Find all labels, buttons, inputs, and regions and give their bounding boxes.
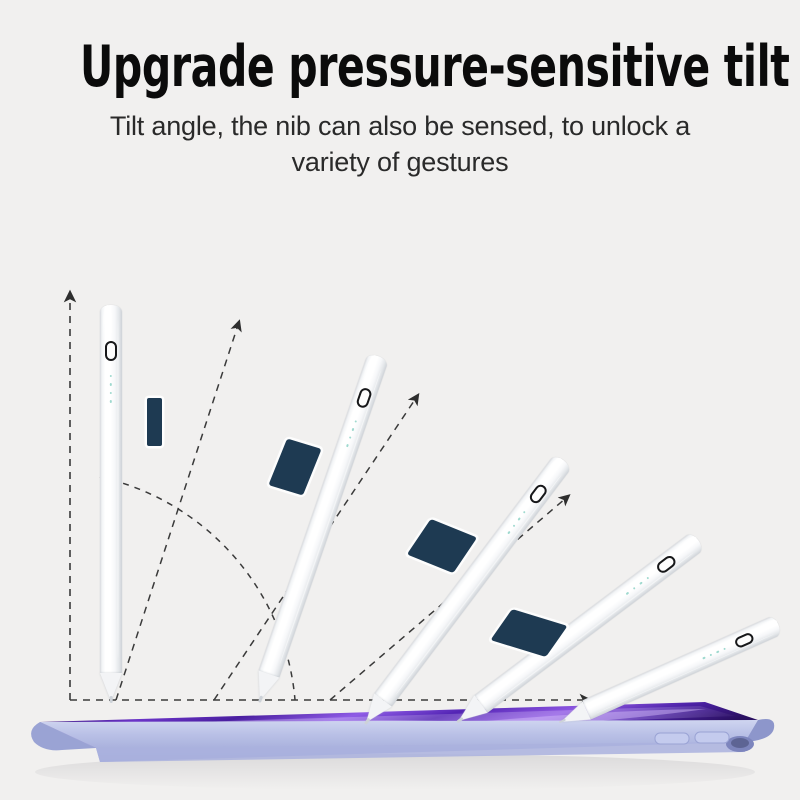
pen-gloss-secondary <box>117 320 119 659</box>
stroke-1 <box>147 398 162 446</box>
volume-up-button <box>655 733 689 744</box>
pen-1 <box>100 305 122 673</box>
usb-c-port-icon <box>355 386 373 409</box>
pen-gloss <box>104 312 108 665</box>
usb-c-port-icon <box>105 341 117 361</box>
led-indicator-dots <box>110 375 112 403</box>
pen-1-body <box>100 305 122 673</box>
tablet-port-inner <box>731 738 749 748</box>
ray-1 <box>116 325 238 700</box>
volume-down-button <box>695 732 729 743</box>
tablet-device <box>31 702 774 790</box>
pen-nib-point <box>110 696 113 703</box>
product-marketing-image: Upgrade pressure-sensitive tilt Tilt ang… <box>0 0 800 800</box>
